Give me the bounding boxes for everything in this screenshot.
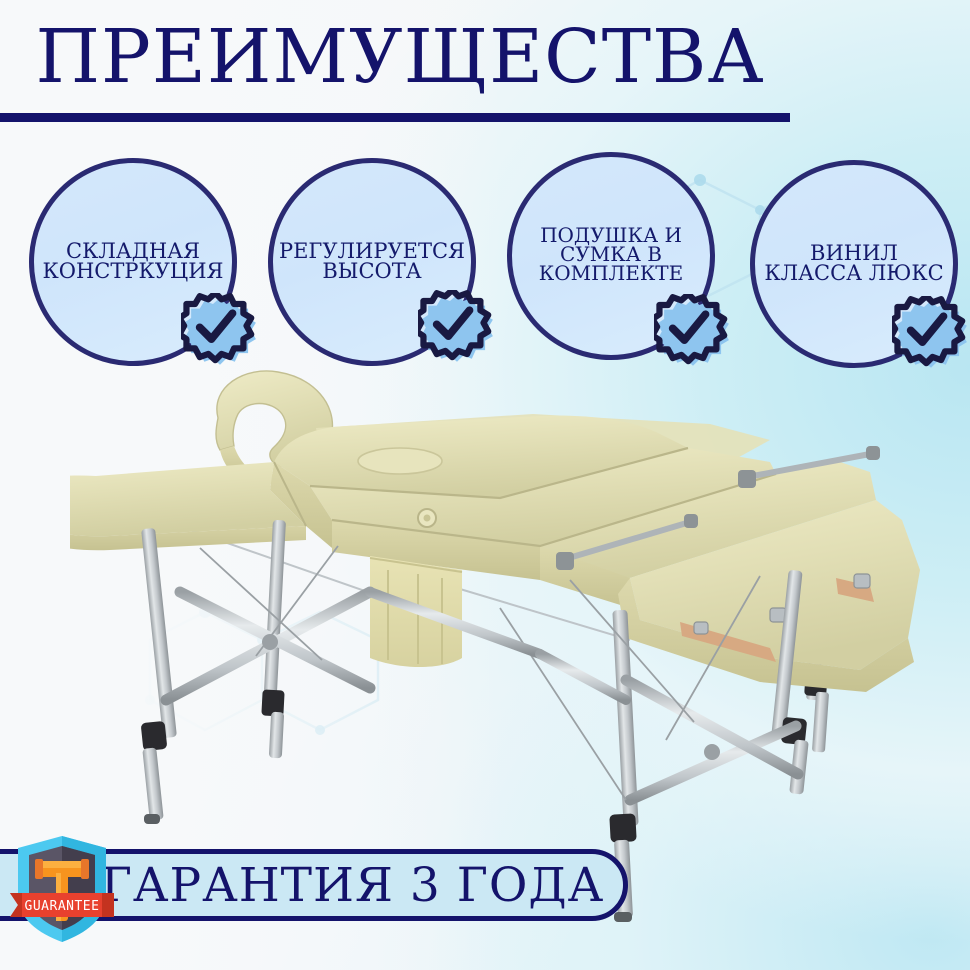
feature-label: ПОДУШКА И СУМКА В КОМПЛЕКТЕ (491, 226, 731, 284)
feature-label-line: КОМПЛЕКТЕ (491, 264, 731, 283)
feature-luxe-class-vinyl[interactable]: ВИНИЛ КЛАССА ЛЮКС (750, 160, 958, 368)
feature-label: СКЛАДНАЯ КОНСТРКУЦИЯ (13, 241, 253, 281)
check-badge-icon (181, 293, 259, 375)
feature-label: ВИНИЛ КЛАССА ЛЮКС (734, 243, 970, 283)
leg-front-left (141, 528, 177, 824)
guarantee-shield-icon: GUARANTEE (8, 833, 116, 945)
feature-pillow-and-bag-included[interactable]: ПОДУШКА И СУМКА В КОМПЛЕКТЕ (507, 152, 715, 360)
feature-folding-construction[interactable]: СКЛАДНАЯ КОНСТРКУЦИЯ (29, 158, 237, 366)
feature-label-line: ВЫСОТА (252, 261, 492, 281)
feature-label-line: РЕГУЛИРУЕТСЯ (252, 241, 492, 261)
feature-label-line: СКЛАДНАЯ (13, 241, 253, 261)
feature-adjustable-height[interactable]: РЕГУЛИРУЕТСЯ ВЫСОТА (268, 158, 476, 366)
check-badge-icon (654, 294, 732, 376)
armrest-left (70, 462, 306, 550)
feature-label: РЕГУЛИРУЕТСЯ ВЫСОТА (252, 241, 492, 281)
cross-brace-right (626, 680, 798, 800)
guarantee-ribbon-text: GUARANTEE (25, 899, 100, 914)
check-badge-icon (418, 290, 496, 372)
feature-label-line: КОНСТРКУЦИЯ (13, 261, 253, 281)
check-badge-icon (892, 296, 970, 378)
feature-label-line: КЛАССА ЛЮКС (734, 263, 970, 283)
feature-label-line: ВИНИЛ (734, 243, 970, 263)
features-row: СКЛАДНАЯ КОНСТРКУЦИЯ РЕГУЛИРУЕТСЯ ВЫСОТА (0, 0, 970, 400)
guarantee-banner-text: ГАРАНТИЯ 3 ГОДА (80, 851, 625, 919)
